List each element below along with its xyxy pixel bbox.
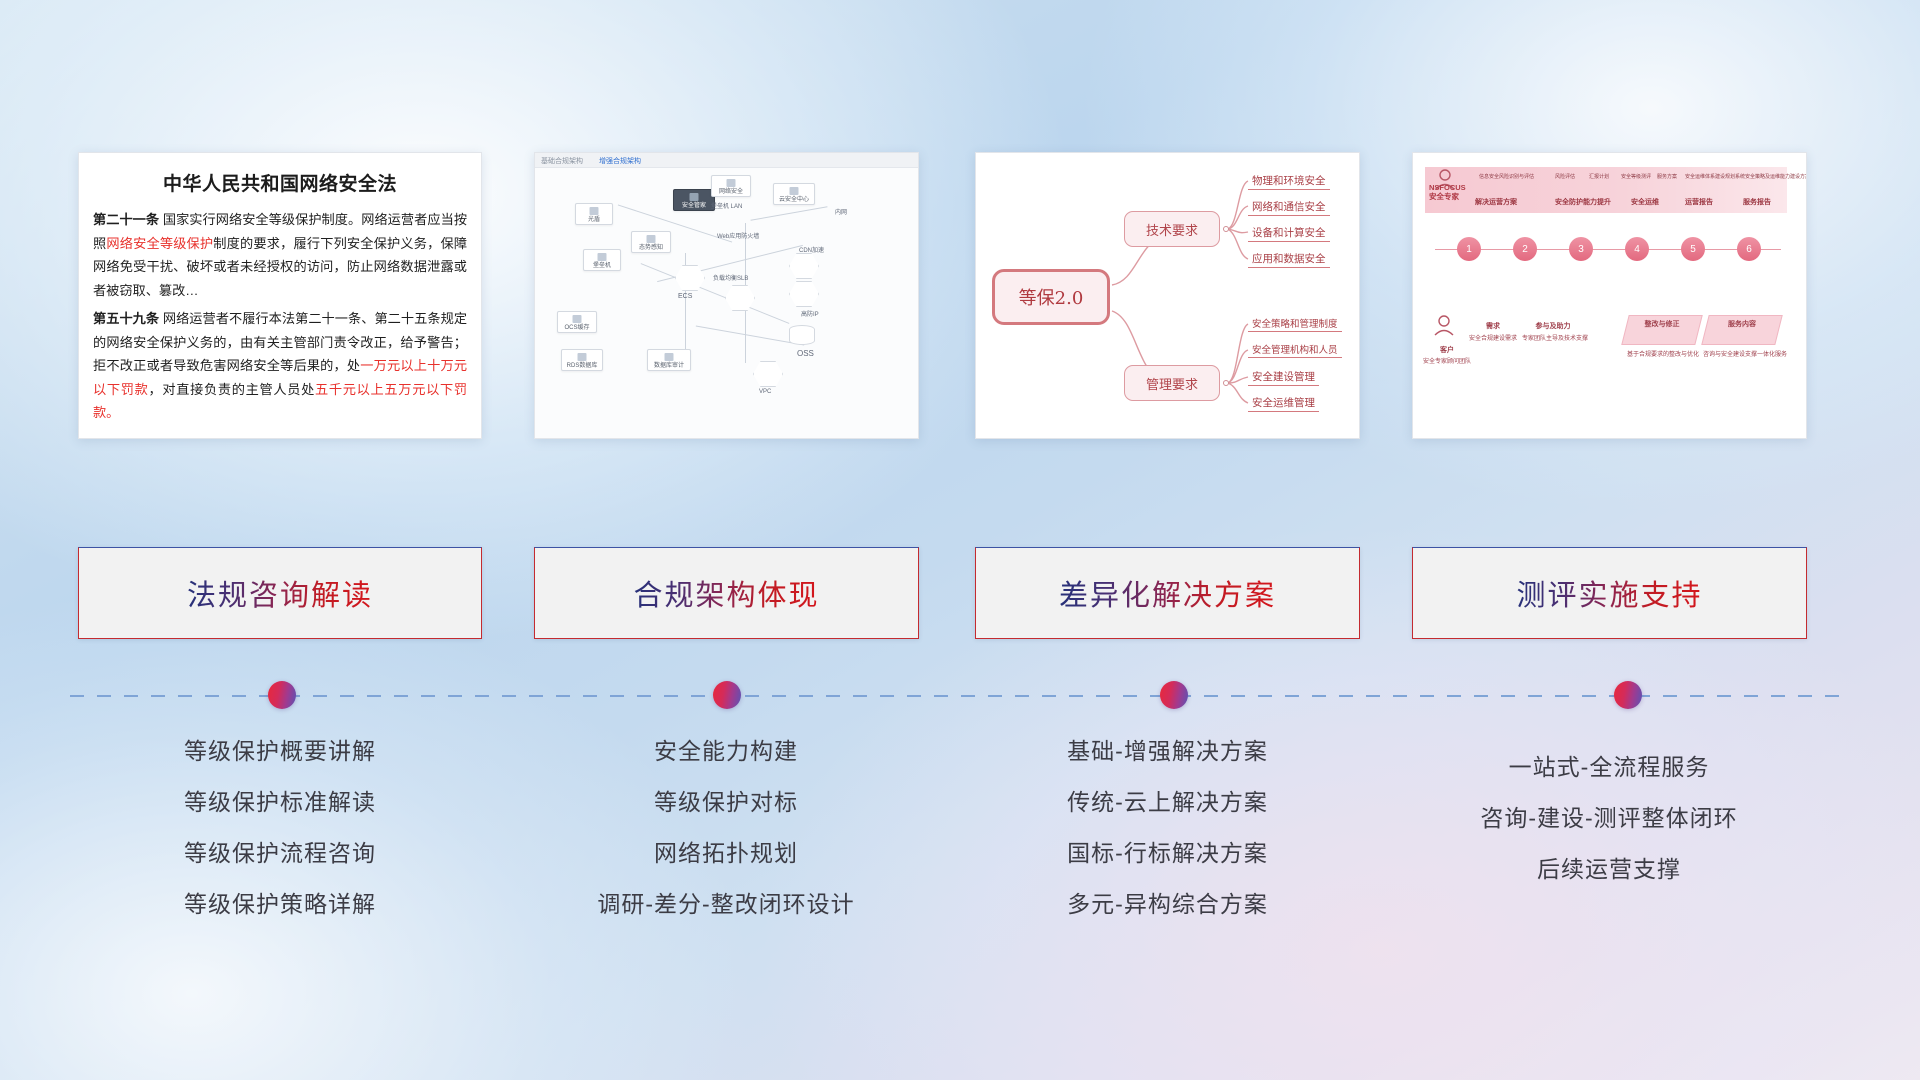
card-cybersecurity-law[interactable]: 中华人民共和国网络安全法 第二十一条 国家实行网络安全等级保护制度。网络运营者应… <box>78 152 482 439</box>
timeline-dot-1[interactable] <box>268 681 296 709</box>
timeline-dashed-line <box>70 695 1850 697</box>
section-header-label: 测评实施支持 <box>1516 572 1702 614</box>
arch-node[interactable]: 态势感知 <box>631 231 671 253</box>
roadmap-step[interactable]: 3 <box>1569 237 1593 261</box>
arch-node[interactable]: 网络安全 <box>711 175 751 197</box>
roadmap-step[interactable]: 4 <box>1625 237 1649 261</box>
section-header-label: 合规架构体现 <box>633 572 819 614</box>
list-item: 国标-行标解决方案 <box>965 842 1370 865</box>
roadmap-bottom-tag-sub: 咨询与安全建设支撑一体化服务 <box>1697 349 1793 358</box>
roadmap-step[interactable]: 1 <box>1457 237 1481 261</box>
roadmap-brand: NSFOCUS 安全专家 <box>1429 183 1466 202</box>
law-article-59: 第五十九条 网络运营者不履行本法第二十一条、第二十五条规定的网络安全保护义务的，… <box>93 307 467 425</box>
list-item: 传统-云上解决方案 <box>965 791 1370 814</box>
arch-node[interactable]: 数据库审计 <box>647 349 691 371</box>
law-body: 第二十一条 国家实行网络安全等级保护制度。网络运营者应当按照网络安全等级保护制度… <box>79 208 481 425</box>
mindmap-collapse-dot-icon[interactable] <box>1223 226 1229 232</box>
mindmap-leaf: 安全运维管理 <box>1248 395 1319 412</box>
roadmap-diagram: NSFOCUS 安全专家 信息安全风险识别与评估 风险评估 汇报计划 安全等级测… <box>1413 153 1806 438</box>
law-article-21-highlight: 网络安全等级保护 <box>106 236 213 251</box>
mindmap-leaf: 设备和计算安全 <box>1248 225 1330 242</box>
list-item: 多元-异构综合方案 <box>965 893 1370 916</box>
list-item: 安全能力构建 <box>520 740 932 763</box>
roadmap-chip: 汇报计划 <box>1589 173 1609 180</box>
arch-node[interactable]: 堡垒机 <box>583 249 621 271</box>
timeline <box>70 694 1850 698</box>
reference-cards-row: 中华人民共和国网络安全法 第二十一条 国家实行网络安全等级保护制度。网络运营者应… <box>0 0 1920 450</box>
service-list-compliance-architecture: 安全能力构建 等级保护对标 网络拓扑规划 调研-差分-整改闭环设计 <box>520 740 932 944</box>
list-item: 咨询-建设-测评整体闭环 <box>1400 807 1818 830</box>
list-item: 等级保护标准解读 <box>78 791 482 814</box>
arch-label: 内网 <box>835 207 847 216</box>
architecture-tabs[interactable]: 基础合规架构 增强合规架构 <box>535 153 918 168</box>
list-item: 等级保护流程咨询 <box>78 842 482 865</box>
roadmap-bottom-tag-title: 整改与修正 <box>1627 319 1697 329</box>
law-article-21-label: 第二十一条 <box>93 212 159 227</box>
arch-label: OSS <box>797 349 814 358</box>
arch-node[interactable]: RDS数据库 <box>561 349 603 371</box>
roadmap-subtag: 安全运维 <box>1631 197 1659 207</box>
section-header-differentiated-solution[interactable]: 差异化解决方案 <box>975 547 1360 639</box>
list-item: 等级保护对标 <box>520 791 932 814</box>
arch-node[interactable]: 云安全中心 <box>773 183 815 205</box>
tab-enhanced-architecture[interactable]: 增强合规架构 <box>599 158 641 165</box>
roadmap-subtag: 运营报告 <box>1685 197 1713 207</box>
section-header-regulation-consulting[interactable]: 法规咨询解读 <box>78 547 482 639</box>
roadmap-customer-label: 客户 <box>1423 345 1471 355</box>
list-item: 一站式-全流程服务 <box>1400 756 1818 779</box>
roadmap-bottom-tag-sub: 基于合规要求的整改与优化 <box>1617 349 1709 358</box>
section-header-label: 法规咨询解读 <box>187 572 373 614</box>
list-item: 等级保护概要讲解 <box>78 740 482 763</box>
timeline-dot-2[interactable] <box>713 681 741 709</box>
law-article-21: 第二十一条 国家实行网络安全等级保护制度。网络运营者应当按照网络安全等级保护制度… <box>93 208 467 302</box>
law-article-59-label: 第五十九条 <box>93 311 159 326</box>
roadmap-chip: 信息安全风险识别与评估 <box>1479 173 1534 180</box>
list-item: 调研-差分-整改闭环设计 <box>520 893 932 916</box>
mindmap-root-node[interactable]: 等保2.0 <box>992 269 1110 325</box>
card-compliance-architecture[interactable]: 基础合规架构 增强合规架构 安全管家 态势感知 光盾 网络安全 堡垒机 云安全中… <box>534 152 919 439</box>
roadmap-subtag: 解决运营方案 <box>1475 197 1517 207</box>
list-item: 后续运营支撑 <box>1400 858 1818 881</box>
architecture-diagram: 基础合规架构 增强合规架构 安全管家 态势感知 光盾 网络安全 堡垒机 云安全中… <box>535 153 918 438</box>
arch-label: VPC <box>759 389 771 395</box>
roadmap-chip: 安全等级测评 <box>1621 173 1651 180</box>
arch-label: 堡垒机 LAN <box>711 201 742 210</box>
list-item: 基础-增强解决方案 <box>965 740 1370 763</box>
law-article-59-part2: ，对直接负责的主管人员处 <box>149 382 316 397</box>
law-title: 中华人民共和国网络安全法 <box>79 169 481 196</box>
arch-label: 负载均衡SLB <box>713 273 748 282</box>
list-item: 等级保护策略详解 <box>78 893 482 916</box>
timeline-dot-4[interactable] <box>1614 681 1642 709</box>
service-list-evaluation-support: 一站式-全流程服务 咨询-建设-测评整体闭环 后续运营支撑 <box>1400 756 1818 909</box>
service-list-differentiated-solution: 基础-增强解决方案 传统-云上解决方案 国标-行标解决方案 多元-异构综合方案 <box>965 740 1370 944</box>
timeline-dot-3[interactable] <box>1160 681 1188 709</box>
roadmap-bottom-tag-title: 参与及助力 <box>1525 321 1581 331</box>
mindmap-leaf: 应用和数据安全 <box>1248 251 1330 268</box>
arch-label: 高防IP <box>801 309 819 318</box>
mindmap-leaf: 安全策略和管理制度 <box>1248 316 1342 332</box>
arch-node[interactable]: 安全管家 <box>673 189 715 211</box>
mindmap-leaf: 安全建设管理 <box>1248 369 1319 386</box>
mindmap-leaf: 网络和通信安全 <box>1248 199 1330 216</box>
section-header-compliance-architecture[interactable]: 合规架构体现 <box>534 547 919 639</box>
arch-connector <box>751 206 828 221</box>
arch-label: CDN加速 <box>799 245 824 254</box>
roadmap-bottom-tag-sub: 安全合规建设需求 <box>1461 333 1525 342</box>
mindmap-branch-technical[interactable]: 技术要求 <box>1124 211 1220 247</box>
arch-label: ECS <box>678 293 692 300</box>
card-nsfocus-roadmap[interactable]: NSFOCUS 安全专家 信息安全风险识别与评估 风险评估 汇报计划 安全等级测… <box>1412 152 1807 439</box>
service-list-regulation-consulting: 等级保护概要讲解 等级保护标准解读 等级保护流程咨询 等级保护策略详解 <box>78 740 482 944</box>
roadmap-bottom-tag-title: 服务内容 <box>1707 319 1777 329</box>
roadmap-bottom-tag-sub: 专家团队主导及技术支撑 <box>1517 333 1593 342</box>
roadmap-subtag: 服务报告 <box>1743 197 1771 207</box>
roadmap-timeline-line <box>1435 249 1781 250</box>
arch-label: Web应用防火墙 <box>717 231 759 240</box>
arch-connector <box>696 325 805 345</box>
mindmap-leaf: 安全管理机构和人员 <box>1248 342 1342 358</box>
mindmap: 等保2.0 技术要求 物理和环境安全 网络和通信安全 设备和计算安全 应用和数据… <box>976 153 1359 438</box>
mindmap-leaf: 物理和环境安全 <box>1248 173 1330 190</box>
roadmap-chip: 系统安全策略及运维能力建设方案 <box>1735 173 1807 180</box>
mindmap-collapse-dot-icon[interactable] <box>1223 380 1229 386</box>
roadmap-step[interactable]: 5 <box>1681 237 1705 261</box>
section-header-label: 差异化解决方案 <box>1059 572 1276 614</box>
roadmap-chip: 安全运维体系建设规划 <box>1685 173 1735 180</box>
mindmap-branch-management[interactable]: 管理要求 <box>1124 365 1220 401</box>
arch-node[interactable]: 光盾 <box>575 203 613 225</box>
roadmap-step[interactable]: 6 <box>1737 237 1761 261</box>
arch-node[interactable]: OCS缓存 <box>557 311 597 333</box>
section-header-evaluation-support[interactable]: 测评实施支持 <box>1412 547 1807 639</box>
roadmap-chip: 风险评估 <box>1555 173 1575 180</box>
arch-hex-shape <box>753 361 783 387</box>
roadmap-bottom-tag-title: 需求 <box>1471 321 1515 331</box>
roadmap-customer-sub: 安全专家顾问团队 <box>1417 356 1477 365</box>
arch-hex-shape <box>789 253 819 279</box>
roadmap-subtag: 安全防护能力提升 <box>1555 197 1611 207</box>
list-item: 网络拓扑规划 <box>520 842 932 865</box>
arch-storage-shape <box>789 325 815 345</box>
roadmap-brand-line2: 安全专家 <box>1429 192 1466 201</box>
roadmap-chip: 服务方案 <box>1657 173 1677 180</box>
roadmap-step[interactable]: 2 <box>1513 237 1537 261</box>
tab-basic-architecture[interactable]: 基础合规架构 <box>541 158 583 165</box>
arch-hex-shape <box>789 281 819 307</box>
card-dengbao-mindmap[interactable]: 等保2.0 技术要求 物理和环境安全 网络和通信安全 设备和计算安全 应用和数据… <box>975 152 1360 439</box>
roadmap-brand-line1: NSFOCUS <box>1429 183 1466 192</box>
